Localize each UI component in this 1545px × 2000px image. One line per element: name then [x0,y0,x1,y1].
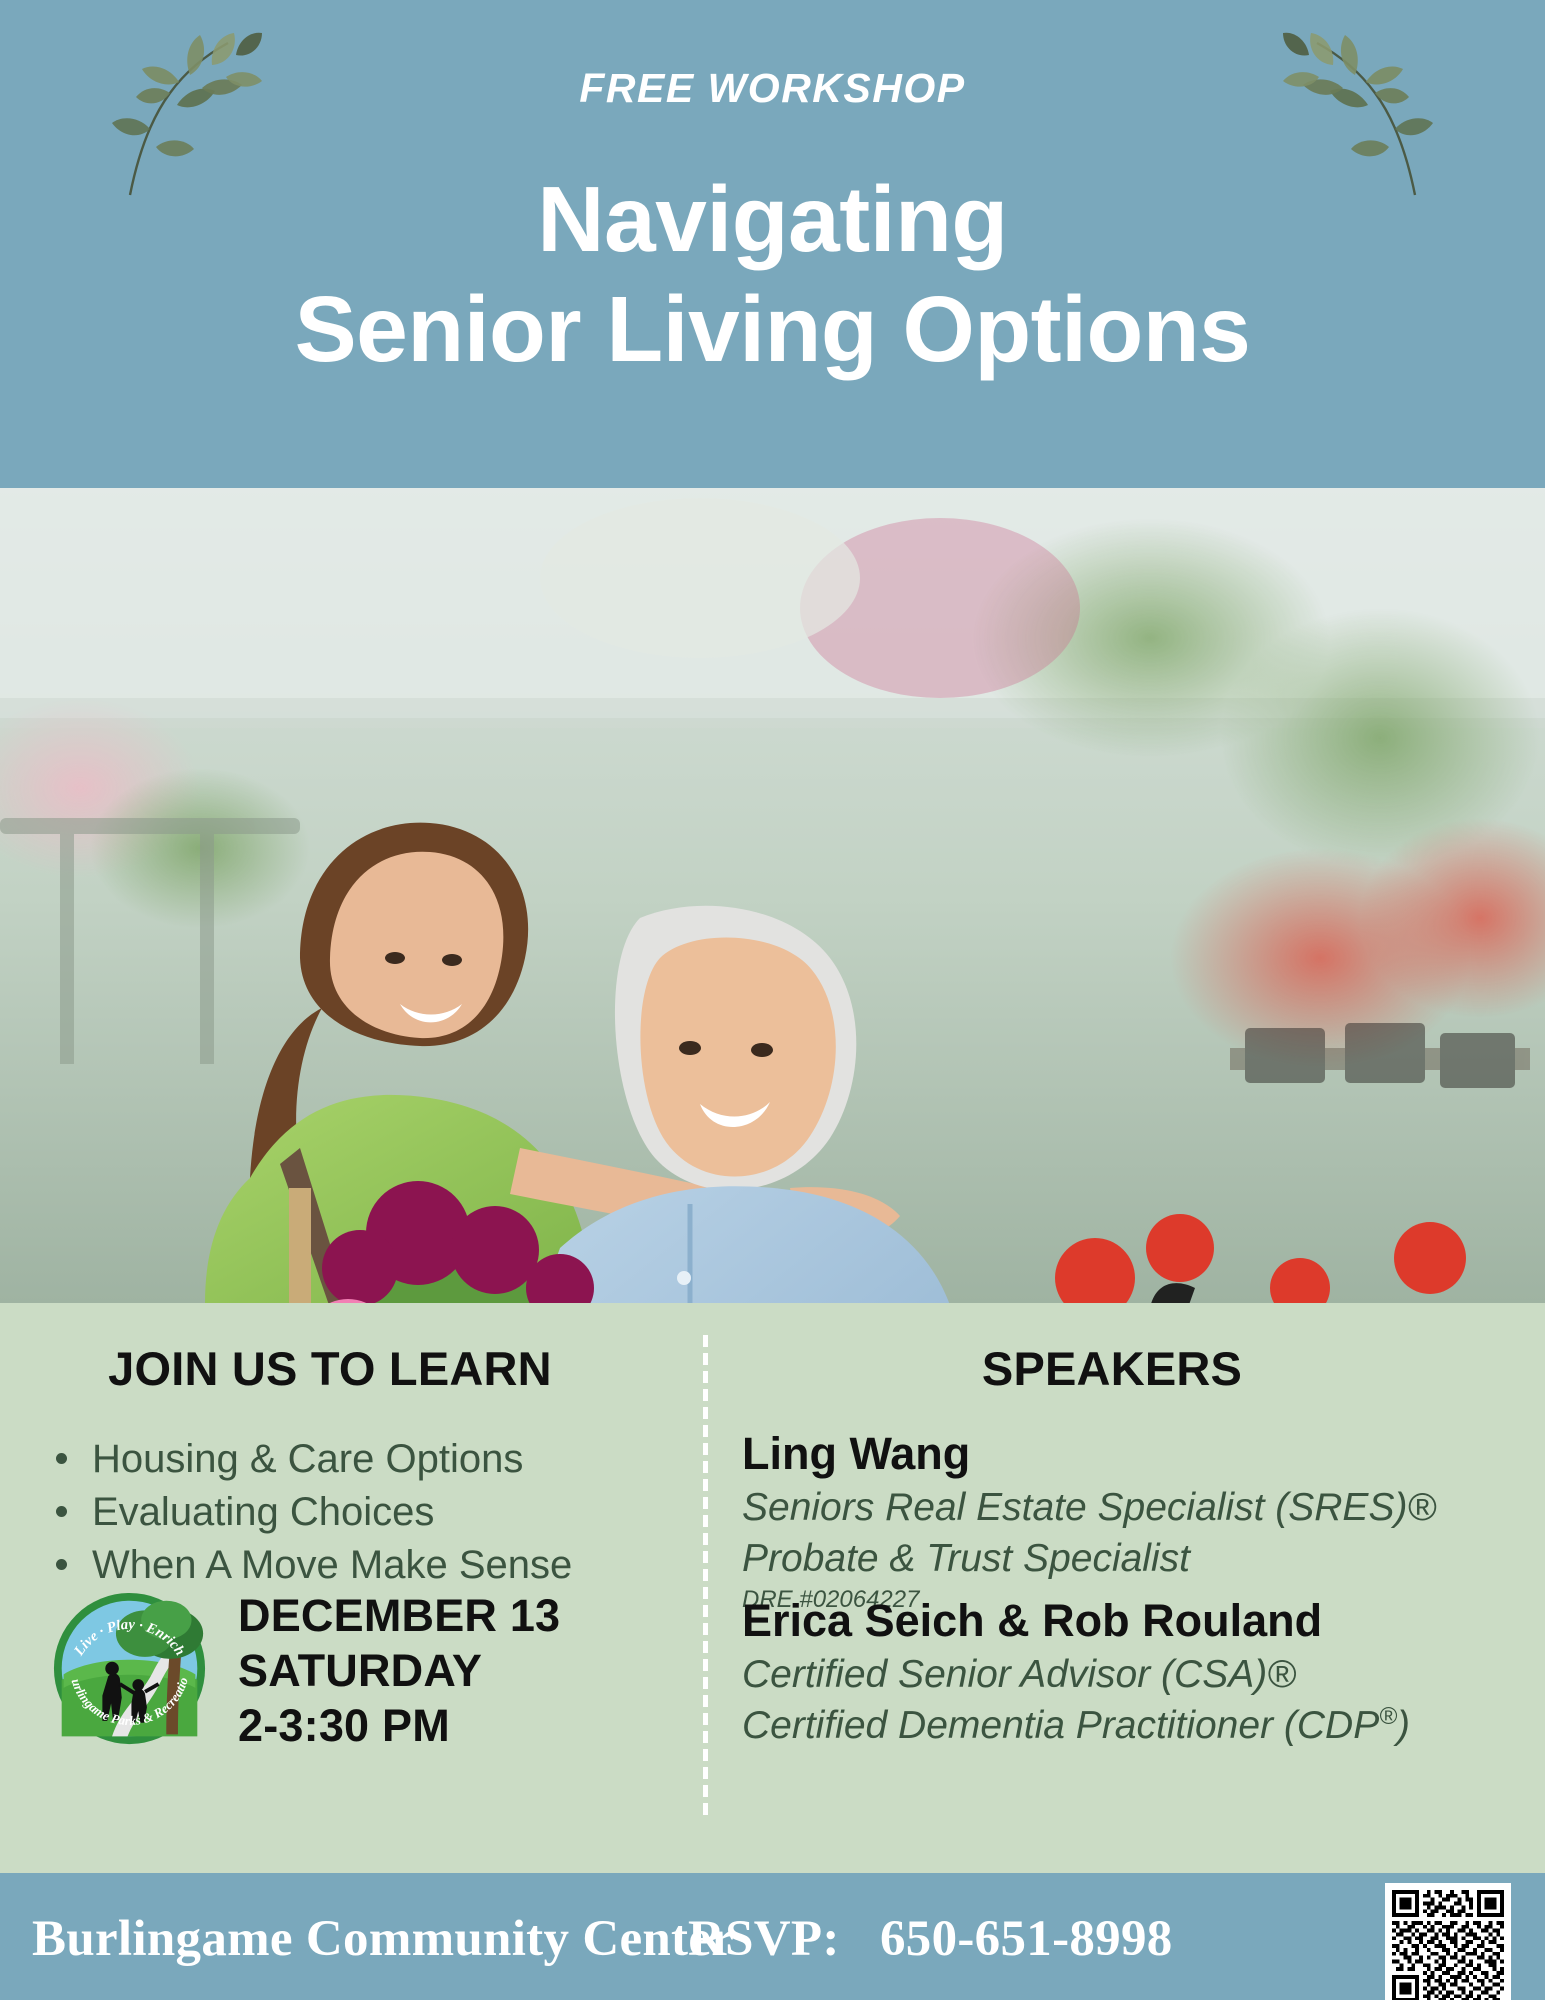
speaker-name: Erica Seich & Rob Rouland [742,1595,1542,1647]
burlingame-parks-and-recreation-logo-icon: Live · Play · Enrich Burlingame Parks & … [52,1591,207,1746]
speakers-heading: SPEAKERS [712,1341,1512,1396]
flyer: FREE WORKSHOP Navigating Senior Living O… [0,0,1545,2000]
speaker-credential: Seniors Real Estate Specialist (SRES)® [742,1484,1542,1532]
qr-code-icon [1392,1890,1504,2000]
learn-list: Housing & Care Options Evaluating Choice… [50,1433,670,1591]
credential-suffix: ) [1397,1704,1410,1747]
credential-text: Certified Dementia Practitioner (CDP [742,1704,1379,1747]
title-line-2: Senior Living Options [0,275,1545,385]
speaker-credential: Certified Dementia Practitioner (CDP®) [742,1702,1542,1750]
registered-mark: ® [1379,1703,1397,1730]
hero-photo [0,488,1545,1303]
rsvp-label: RSVP: [688,1910,840,1968]
eyebrow-label: FREE WORKSHOP [0,65,1545,112]
speaker-entry: Ling Wang Seniors Real Estate Specialist… [742,1428,1542,1615]
column-divider [703,1335,708,1817]
venue-name: Burlingame Community Center [32,1910,734,1968]
rsvp-phone[interactable]: 650-651-8998 [880,1910,1173,1968]
learn-heading: JOIN US TO LEARN [0,1341,660,1396]
list-item: When A Move Make Sense [50,1539,670,1592]
speaker-credential: Probate & Trust Specialist [742,1535,1542,1583]
event-day: SATURDAY [238,1644,658,1699]
list-item: Housing & Care Options [50,1433,670,1486]
speaker-name: Ling Wang [742,1428,1542,1480]
event-date: DECEMBER 13 [238,1589,658,1644]
speaker-entry: Erica Seich & Rob Rouland Certified Seni… [742,1595,1542,1750]
details-panel: JOIN US TO LEARN Housing & Care Options … [0,1303,1545,1873]
speakers-column: SPEAKERS Ling Wang Seniors Real Estate S… [712,1303,1545,1873]
footer-bar: Burlingame Community Center RSVP: 650-65… [0,1873,1545,2000]
header-banner: FREE WORKSHOP Navigating Senior Living O… [0,0,1545,488]
speaker-credential: Certified Senior Advisor (CSA)® [742,1651,1542,1699]
title-line-1: Navigating [0,165,1545,275]
event-datetime: DECEMBER 13 SATURDAY 2-3:30 PM [238,1589,658,1754]
learn-column: JOIN US TO LEARN Housing & Care Options … [0,1303,700,1873]
hero-photo-illustration [0,488,1545,1303]
event-time: 2-3:30 PM [238,1699,658,1754]
list-item: Evaluating Choices [50,1486,670,1539]
qr-code[interactable] [1385,1883,1511,2000]
page-title: Navigating Senior Living Options [0,165,1545,384]
